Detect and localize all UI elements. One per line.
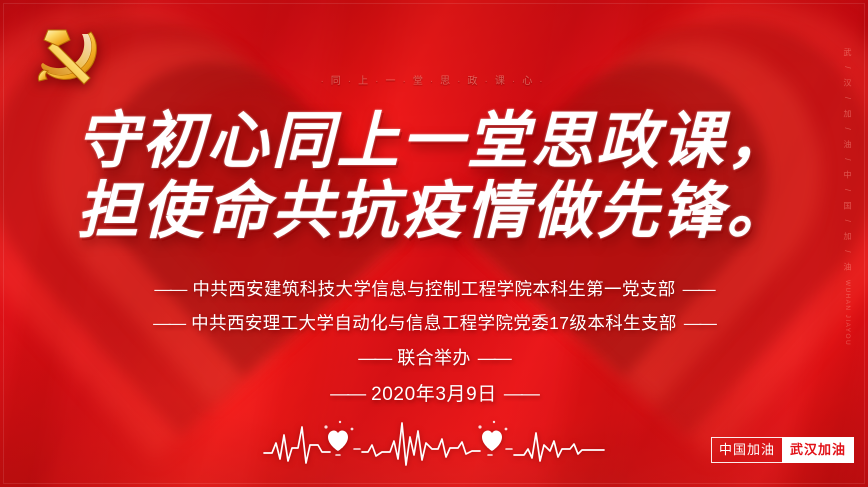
title-line-2: 担使命共抗疫情做先锋。 (0, 174, 868, 248)
rule-left-2: —— (146, 313, 191, 333)
rule-right-1: —— (676, 279, 721, 299)
subtitle-block: ——中共西安建筑科技大学信息与控制工程学院本科生第一党支部—— ——中共西安理工… (0, 272, 868, 414)
joint-host-label: 联合举办 (397, 348, 471, 368)
ornament-char-3: 堂 (413, 76, 428, 87)
joint-host-row: ——联合举办—— (0, 340, 868, 376)
organizer-1-label: 中共西安建筑科技大学信息与控制工程学院本科生第一党支部 (192, 279, 675, 299)
rule-left-3: —— (351, 348, 397, 368)
organizer-row-1: ——中共西安建筑科技大学信息与控制工程学院本科生第一党支部—— (0, 272, 868, 306)
ornament-char-6: 课 (495, 76, 510, 87)
ornament-char-4: 思 (440, 76, 455, 87)
date-row: ——2020年3月9日—— (0, 376, 868, 414)
event-date: 2020年3月9日 (371, 384, 497, 405)
ornament-char-5: 政 (468, 76, 483, 87)
page-title: 守初心同上一堂思政课， 担使命共抗疫情做先锋。 (0, 104, 868, 248)
rule-right-4: —— (497, 384, 545, 405)
badge-wuhan-jiayou[interactable]: 武汉加油 (782, 437, 854, 463)
ornament-char-1: 上 (358, 76, 373, 87)
propaganda-poster: ·同·上·一·堂·思·政·课·心· 武 / 汉 / 加 / 油 / 中 / 国 … (0, 0, 868, 487)
ornament-char-2: 一 (385, 76, 400, 87)
rule-right-3: —— (471, 348, 517, 368)
organizer-2-label: 中共西安理工大学自动化与信息工程学院党委17级本科生支部 (191, 313, 677, 333)
ornament-char-0: 同 (331, 76, 346, 87)
ornament-dot: · (318, 76, 330, 87)
top-ornament-text: ·同·上·一·堂·思·政·课·心· (0, 72, 868, 87)
slogan-badges: 中国加油 武汉加油 (711, 437, 854, 463)
organizer-row-2: ——中共西安理工大学自动化与信息工程学院党委17级本科生支部—— (0, 306, 868, 340)
title-line-1: 守初心同上一堂思政课， (0, 104, 868, 178)
rule-left-1: —— (147, 279, 192, 299)
badge-china-jiayou[interactable]: 中国加油 (711, 437, 782, 463)
ornament-char-7: 心 (522, 76, 537, 87)
rule-right-2: —— (677, 313, 722, 333)
heartbeat-waveform-icon (262, 415, 606, 471)
rule-left-4: —— (323, 384, 371, 405)
